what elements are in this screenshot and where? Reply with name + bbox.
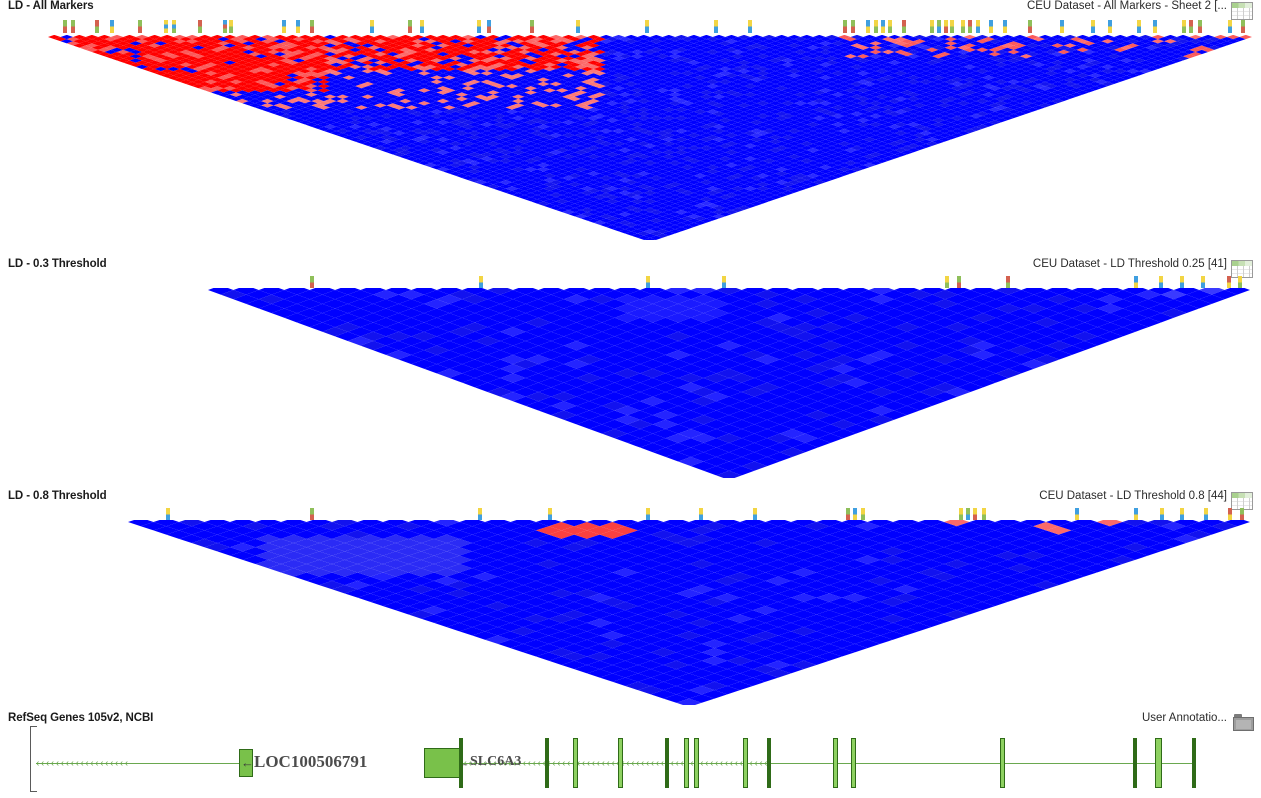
gene-exon[interactable] bbox=[1192, 738, 1196, 788]
panel-title-ld-0-8-threshold: LD - 0.8 Threshold bbox=[8, 490, 107, 502]
gene-axis-LOC100506791-strand-arrows: ‹‹‹‹‹‹‹‹‹‹‹‹‹‹‹‹‹‹‹ bbox=[36, 758, 250, 769]
panel-title-ld-all-markers: LD - All Markers bbox=[8, 0, 94, 12]
ld-heatmap bbox=[0, 35, 1261, 240]
marker-tick[interactable] bbox=[370, 20, 374, 33]
marker-tick[interactable] bbox=[843, 20, 847, 33]
marker-tick[interactable] bbox=[1241, 20, 1245, 33]
marker-tick[interactable] bbox=[172, 20, 176, 33]
ld-panel-ld-all-markers: LD - All MarkersCEU Dataset - All Marker… bbox=[0, 0, 1261, 248]
panel-title-ld-0-3-threshold: LD - 0.3 Threshold bbox=[8, 258, 107, 270]
marker-tick[interactable] bbox=[748, 20, 752, 33]
marker-tick[interactable] bbox=[937, 20, 941, 33]
marker-tick[interactable] bbox=[888, 20, 892, 33]
ld-panel-ld-0-3-threshold: LD - 0.3 ThresholdCEU Dataset - LD Thres… bbox=[0, 258, 1261, 478]
marker-tick[interactable] bbox=[95, 20, 99, 33]
marker-tick[interactable] bbox=[1003, 20, 1007, 33]
gene-label-SLC6A3[interactable]: SLC6A3 bbox=[470, 754, 521, 770]
marker-tick[interactable] bbox=[902, 20, 906, 33]
marker-tick[interactable] bbox=[1182, 20, 1186, 33]
marker-tick[interactable] bbox=[874, 20, 878, 33]
gene-exon-start-SLC6A3[interactable] bbox=[424, 748, 460, 778]
gene-exon[interactable] bbox=[1000, 738, 1005, 788]
gene-exon[interactable] bbox=[573, 738, 578, 788]
marker-tick[interactable] bbox=[714, 20, 718, 33]
gene-exon[interactable] bbox=[743, 738, 748, 788]
marker-tick-row-ld-all-markers bbox=[0, 20, 1261, 34]
genome-browser-view: LD - All MarkersCEU Dataset - All Marker… bbox=[0, 0, 1261, 798]
marker-tick[interactable] bbox=[229, 20, 233, 33]
spreadsheet-icon[interactable] bbox=[1231, 2, 1253, 20]
marker-tick[interactable] bbox=[968, 20, 972, 33]
marker-tick[interactable] bbox=[110, 20, 114, 33]
marker-tick[interactable] bbox=[1189, 20, 1193, 33]
gene-exon[interactable] bbox=[833, 738, 838, 788]
marker-tick[interactable] bbox=[961, 20, 965, 33]
marker-tick[interactable] bbox=[1028, 20, 1032, 33]
gene-exon[interactable] bbox=[1155, 738, 1162, 788]
marker-tick[interactable] bbox=[296, 20, 300, 33]
marker-tick[interactable] bbox=[1198, 20, 1202, 33]
ld-canvas-ld-all-markers[interactable] bbox=[0, 35, 1261, 240]
ld-heatmap bbox=[0, 520, 1261, 705]
marker-tick[interactable] bbox=[282, 20, 286, 33]
marker-tick[interactable] bbox=[930, 20, 934, 33]
gene-exon[interactable] bbox=[1133, 738, 1137, 788]
gene-exon[interactable] bbox=[545, 738, 549, 788]
marker-tick[interactable] bbox=[408, 20, 412, 33]
marker-tick[interactable] bbox=[989, 20, 993, 33]
gene-strand-arrowhead-LOC100506791: ← bbox=[241, 756, 254, 769]
gene-track-title: RefSeq Genes 105v2, NCBI bbox=[8, 712, 153, 724]
gene-exon[interactable] bbox=[618, 738, 623, 788]
gene-exon[interactable] bbox=[665, 738, 669, 788]
gene-exon[interactable] bbox=[459, 738, 463, 788]
marker-tick[interactable] bbox=[71, 20, 75, 33]
marker-tick[interactable] bbox=[477, 20, 481, 33]
marker-tick[interactable] bbox=[976, 20, 980, 33]
refseq-gene-track: RefSeq Genes 105v2, NCBIUser Annotatio..… bbox=[0, 712, 1261, 798]
folder-icon[interactable] bbox=[1233, 714, 1253, 730]
gene-exon[interactable] bbox=[694, 738, 699, 788]
marker-tick[interactable] bbox=[944, 20, 948, 33]
marker-tick[interactable] bbox=[645, 20, 649, 33]
marker-tick[interactable] bbox=[576, 20, 580, 33]
gene-exon[interactable] bbox=[767, 738, 771, 788]
marker-tick[interactable] bbox=[63, 20, 67, 33]
marker-tick[interactable] bbox=[866, 20, 870, 33]
ld-panel-ld-0-8-threshold: LD - 0.8 ThresholdCEU Dataset - LD Thres… bbox=[0, 490, 1261, 705]
marker-tick[interactable] bbox=[487, 20, 491, 33]
marker-tick[interactable] bbox=[310, 20, 314, 33]
marker-tick[interactable] bbox=[1060, 20, 1064, 33]
panel-source-ld-0-3-threshold[interactable]: CEU Dataset - LD Threshold 0.25 [41] bbox=[1033, 258, 1227, 270]
marker-tick[interactable] bbox=[851, 20, 855, 33]
marker-tick[interactable] bbox=[164, 20, 168, 33]
panel-source-ld-0-8-threshold[interactable]: CEU Dataset - LD Threshold 0.8 [44] bbox=[1039, 490, 1227, 502]
marker-tick[interactable] bbox=[1137, 20, 1141, 33]
ld-canvas-ld-0-8-threshold[interactable] bbox=[0, 520, 1261, 705]
ld-heatmap bbox=[0, 288, 1261, 478]
marker-tick[interactable] bbox=[138, 20, 142, 33]
marker-tick[interactable] bbox=[1091, 20, 1095, 33]
marker-tick[interactable] bbox=[198, 20, 202, 33]
gene-exon[interactable] bbox=[684, 738, 689, 788]
marker-tick[interactable] bbox=[950, 20, 954, 33]
marker-tick[interactable] bbox=[1108, 20, 1112, 33]
gene-exon[interactable] bbox=[851, 738, 856, 788]
marker-tick[interactable] bbox=[530, 20, 534, 33]
marker-tick[interactable] bbox=[223, 20, 227, 33]
gene-label-LOC100506791[interactable]: LOC100506791 bbox=[254, 752, 367, 772]
marker-tick[interactable] bbox=[1153, 20, 1157, 33]
ld-canvas-ld-0-3-threshold[interactable] bbox=[0, 288, 1261, 478]
marker-tick[interactable] bbox=[420, 20, 424, 33]
panel-source-ld-all-markers[interactable]: CEU Dataset - All Markers - Sheet 2 [... bbox=[1027, 0, 1227, 12]
marker-tick[interactable] bbox=[881, 20, 885, 33]
user-annotation-label[interactable]: User Annotatio... bbox=[1142, 712, 1227, 724]
marker-tick[interactable] bbox=[1228, 20, 1232, 33]
gene-axis-SLC6A3-strand-arrows: ‹‹‹‹‹‹‹‹‹‹‹‹‹‹‹‹‹‹‹‹‹‹‹‹‹‹‹‹‹‹‹‹‹‹‹‹‹‹‹‹… bbox=[424, 758, 1196, 769]
